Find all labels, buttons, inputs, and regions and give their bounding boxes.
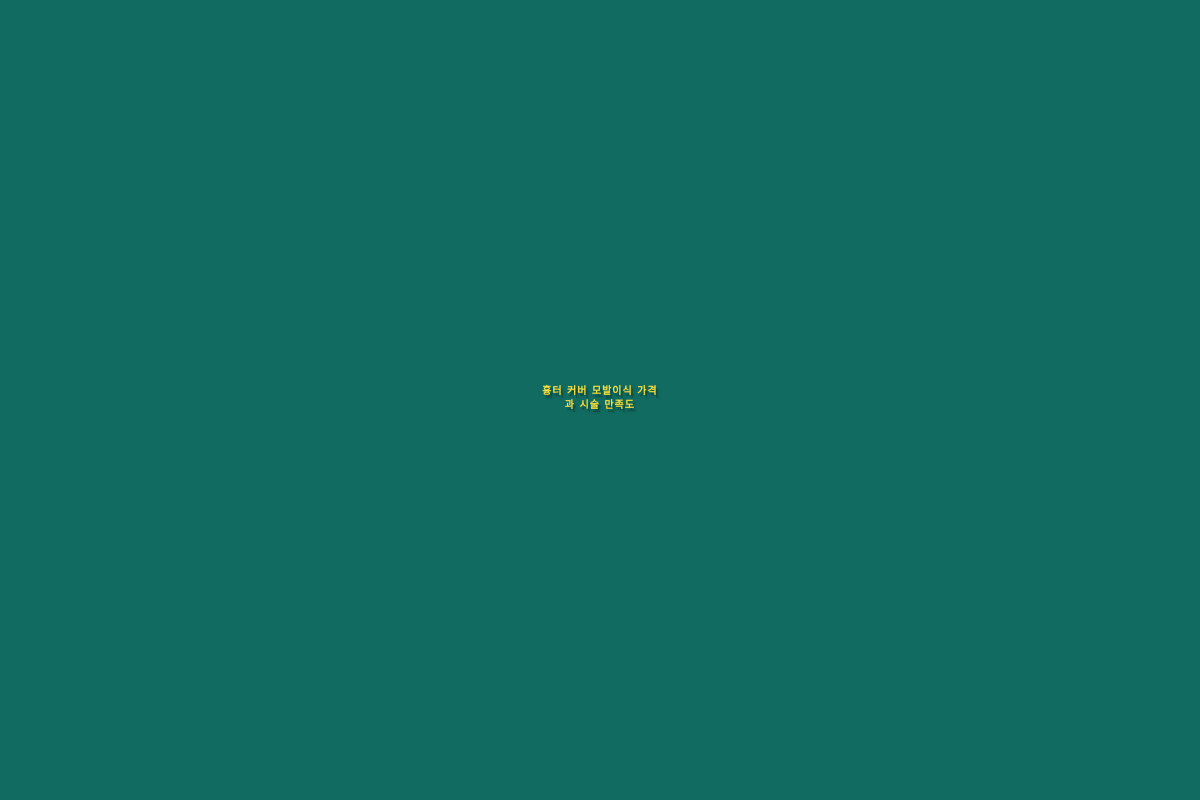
title-line-2: 과 시술 만족도	[40, 399, 1160, 413]
title-line-1: 흉터 커버 모발이식 가격	[40, 385, 1160, 399]
title-card: 흉터 커버 모발이식 가격 과 시술 만족도	[0, 0, 1200, 800]
page-title: 흉터 커버 모발이식 가격 과 시술 만족도	[0, 385, 1200, 413]
